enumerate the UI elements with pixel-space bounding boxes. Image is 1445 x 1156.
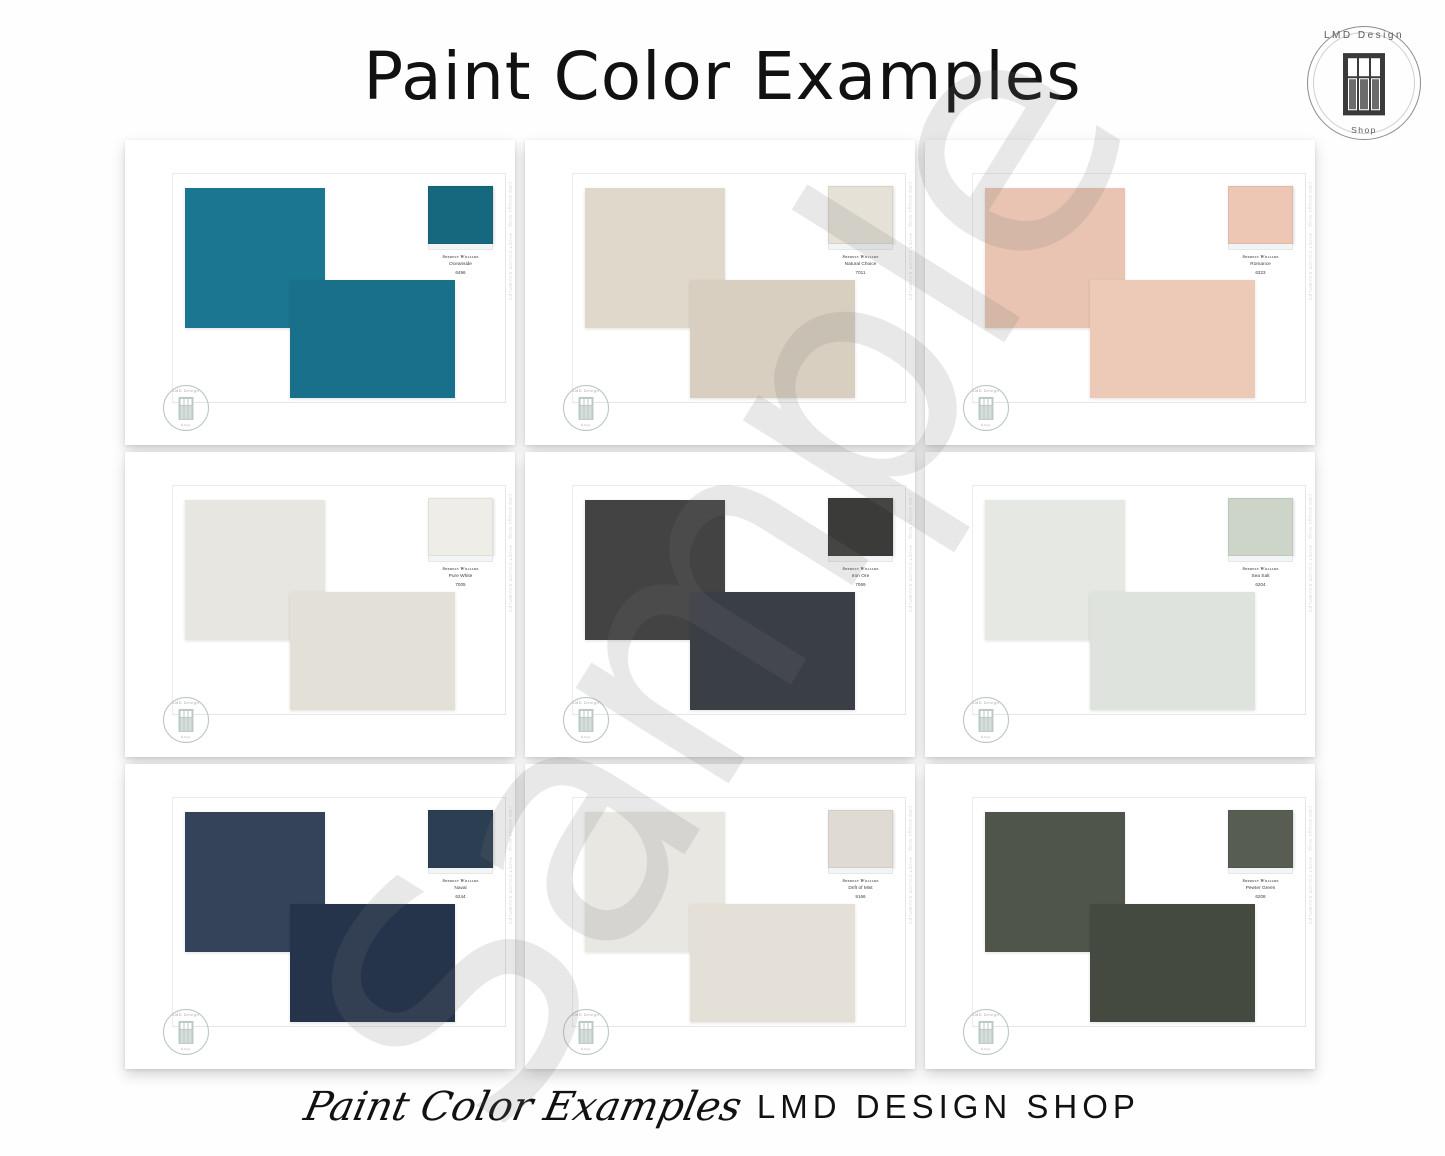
- paint-swatch-chip: [428, 810, 493, 868]
- paint-swatch-foot: [428, 556, 493, 562]
- card-logo-badge: LMD Design Shop: [163, 697, 209, 743]
- room-photo-secondary: [1090, 592, 1255, 710]
- card-logo-bottom-text: Shop: [563, 1047, 609, 1051]
- paint-swatch[interactable]: Sherwin Williams Pure White 7005: [428, 498, 493, 588]
- card-door-logo-icon: [579, 1021, 594, 1044]
- paint-swatch[interactable]: Sherwin Williams Natural Choice 7011: [828, 186, 893, 276]
- card-logo-top-text: LMD Design: [963, 389, 1009, 393]
- logo-top-text: LMD Design: [1303, 30, 1425, 41]
- card-side-watermark: LMD Design Shop - PAINT COLOR EXAMPLES: [508, 806, 513, 925]
- card-logo-top-text: LMD Design: [963, 701, 1009, 705]
- card-door-logo-icon: [979, 397, 994, 420]
- paint-card-natural-choice[interactable]: Sherwin Williams Natural Choice 7011 LMD…: [525, 140, 915, 445]
- page-title: Paint Color Examples: [0, 38, 1445, 115]
- card-logo-badge: LMD Design Shop: [963, 1009, 1009, 1055]
- paint-color-name: Natural Choice: [828, 261, 893, 269]
- paint-swatch-chip: [428, 498, 493, 556]
- card-door-logo-icon: [579, 709, 594, 732]
- card-logo-bottom-text: Shop: [163, 423, 209, 427]
- paint-swatch-label: Sherwin Williams Naval 6244: [428, 878, 493, 900]
- paint-color-name: Pure White: [428, 573, 493, 581]
- paint-card-naval[interactable]: Sherwin Williams Naval 6244 LMD Design S…: [125, 764, 515, 1069]
- paint-card-pure-white[interactable]: Sherwin Williams Pure White 7005 LMD Des…: [125, 452, 515, 757]
- paint-color-name: Drift of Mist: [828, 885, 893, 893]
- card-side-watermark: LMD Design Shop - PAINT COLOR EXAMPLES: [508, 182, 513, 301]
- paint-swatch-foot: [1228, 868, 1293, 874]
- card-door-logo-icon: [979, 709, 994, 732]
- card-logo-top-text: LMD Design: [163, 389, 209, 393]
- paint-brand: Sherwin Williams: [1228, 254, 1293, 261]
- paint-brand: Sherwin Williams: [428, 566, 493, 573]
- paint-swatch-foot: [828, 244, 893, 250]
- paint-swatch-foot: [828, 868, 893, 874]
- room-photo-secondary: [690, 904, 855, 1022]
- paint-swatch-label: Sherwin Williams Romance 6323: [1228, 254, 1293, 276]
- paint-color-code: 6204: [1228, 581, 1293, 588]
- paint-swatch-chip: [828, 186, 893, 244]
- room-photo-secondary: [1090, 904, 1255, 1022]
- paint-swatch[interactable]: Sherwin Williams Naval 6244: [428, 810, 493, 900]
- card-door-logo-icon: [979, 1021, 994, 1044]
- paint-color-code: 9166: [828, 893, 893, 900]
- paint-swatch-chip: [1228, 498, 1293, 556]
- card-logo-top-text: LMD Design: [163, 701, 209, 705]
- paint-brand: Sherwin Williams: [828, 566, 893, 573]
- paint-swatch[interactable]: Sherwin Williams Drift of Mist 9166: [828, 810, 893, 900]
- paint-brand: Sherwin Williams: [1228, 566, 1293, 573]
- card-door-logo-icon: [579, 397, 594, 420]
- paint-swatch-label: Sherwin Williams Natural Choice 7011: [828, 254, 893, 276]
- card-side-watermark: LMD Design Shop - PAINT COLOR EXAMPLES: [908, 494, 913, 613]
- paint-swatch[interactable]: Sherwin Williams Oceanside 6496: [428, 186, 493, 276]
- paint-swatch-label: Sherwin Williams Pewter Green 6208: [1228, 878, 1293, 900]
- paint-card-grid: Sherwin Williams Oceanside 6496 LMD Desi…: [125, 140, 1315, 1060]
- paint-swatch-label: Sherwin Williams Pure White 7005: [428, 566, 493, 588]
- paint-swatch[interactable]: Sherwin Williams Sea Salt 6204: [1228, 498, 1293, 588]
- card-logo-top-text: LMD Design: [163, 1013, 209, 1017]
- paint-color-code: 7005: [428, 581, 493, 588]
- paint-swatch[interactable]: Sherwin Williams Iron Ore 7069: [828, 498, 893, 588]
- card-logo-bottom-text: Shop: [563, 423, 609, 427]
- card-side-watermark: LMD Design Shop - PAINT COLOR EXAMPLES: [1308, 182, 1313, 301]
- room-photo-secondary: [690, 592, 855, 710]
- card-logo-badge: LMD Design Shop: [563, 697, 609, 743]
- paint-brand: Sherwin Williams: [1228, 878, 1293, 885]
- paint-brand: Sherwin Williams: [428, 254, 493, 261]
- paint-color-code: 6323: [1228, 269, 1293, 276]
- room-photo-secondary: [290, 592, 455, 710]
- room-photo-secondary: [290, 904, 455, 1022]
- paint-card-sea-salt[interactable]: Sherwin Williams Sea Salt 6204 LMD Desig…: [925, 452, 1315, 757]
- logo-bottom-text: Shop: [1303, 125, 1425, 135]
- paint-color-code: 7069: [828, 581, 893, 588]
- paint-swatch-foot: [1228, 556, 1293, 562]
- paint-swatch-foot: [428, 868, 493, 874]
- paint-swatch-label: Sherwin Williams Oceanside 6496: [428, 254, 493, 276]
- card-logo-bottom-text: Shop: [963, 1047, 1009, 1051]
- card-logo-bottom-text: Shop: [563, 735, 609, 739]
- paint-swatch-chip: [1228, 810, 1293, 868]
- paint-swatch-chip: [828, 498, 893, 556]
- card-logo-badge: LMD Design Shop: [163, 1009, 209, 1055]
- door-logo-icon: [1343, 53, 1385, 115]
- paint-brand: Sherwin Williams: [428, 878, 493, 885]
- paint-color-name: Naval: [428, 885, 493, 893]
- paint-swatch-label: Sherwin Williams Sea Salt 6204: [1228, 566, 1293, 588]
- brand-logo: LMD Design Shop: [1303, 22, 1425, 144]
- paint-swatch-label: Sherwin Williams Drift of Mist 9166: [828, 878, 893, 900]
- paint-swatch-chip: [828, 810, 893, 868]
- paint-color-name: Sea Salt: [1228, 573, 1293, 581]
- paint-color-examples-page: Paint Color Examples LMD Design Shop She…: [0, 0, 1445, 1156]
- paint-swatch-foot: [828, 556, 893, 562]
- card-side-watermark: LMD Design Shop - PAINT COLOR EXAMPLES: [1308, 806, 1313, 925]
- card-door-logo-icon: [179, 397, 194, 420]
- card-logo-badge: LMD Design Shop: [963, 385, 1009, 431]
- card-logo-badge: LMD Design Shop: [563, 385, 609, 431]
- paint-brand: Sherwin Williams: [828, 878, 893, 885]
- paint-color-name: Pewter Green: [1228, 885, 1293, 893]
- card-logo-bottom-text: Shop: [163, 1047, 209, 1051]
- paint-color-name: Iron Ore: [828, 573, 893, 581]
- paint-swatch-foot: [428, 244, 493, 250]
- footer: Paint Color Examples LMD DESIGN SHOP: [0, 1084, 1445, 1130]
- room-photo-secondary: [290, 280, 455, 398]
- card-door-logo-icon: [179, 709, 194, 732]
- paint-color-code: 6208: [1228, 893, 1293, 900]
- paint-color-name: Oceanside: [428, 261, 493, 269]
- card-logo-top-text: LMD Design: [563, 389, 609, 393]
- card-side-watermark: LMD Design Shop - PAINT COLOR EXAMPLES: [908, 182, 913, 301]
- paint-color-name: Romance: [1228, 261, 1293, 269]
- card-logo-badge: LMD Design Shop: [963, 697, 1009, 743]
- card-logo-top-text: LMD Design: [563, 1013, 609, 1017]
- paint-brand: Sherwin Williams: [828, 254, 893, 261]
- paint-swatch-label: Sherwin Williams Iron Ore 7069: [828, 566, 893, 588]
- footer-brand-text: LMD DESIGN SHOP: [757, 1088, 1140, 1126]
- card-side-watermark: LMD Design Shop - PAINT COLOR EXAMPLES: [508, 494, 513, 613]
- paint-card-pewter-green[interactable]: Sherwin Williams Pewter Green 6208 LMD D…: [925, 764, 1315, 1069]
- card-side-watermark: LMD Design Shop - PAINT COLOR EXAMPLES: [1308, 494, 1313, 613]
- paint-card-drift-of-mist[interactable]: Sherwin Williams Drift of Mist 9166 LMD …: [525, 764, 915, 1069]
- paint-card-iron-ore[interactable]: Sherwin Williams Iron Ore 7069 LMD Desig…: [525, 452, 915, 757]
- paint-swatch[interactable]: Sherwin Williams Romance 6323: [1228, 186, 1293, 276]
- card-logo-bottom-text: Shop: [163, 735, 209, 739]
- paint-card-romance[interactable]: Sherwin Williams Romance 6323 LMD Design…: [925, 140, 1315, 445]
- paint-color-code: 6244: [428, 893, 493, 900]
- room-photo-secondary: [1090, 280, 1255, 398]
- paint-color-code: 7011: [828, 269, 893, 276]
- card-door-logo-icon: [179, 1021, 194, 1044]
- card-logo-top-text: LMD Design: [563, 701, 609, 705]
- paint-swatch[interactable]: Sherwin Williams Pewter Green 6208: [1228, 810, 1293, 900]
- paint-swatch-chip: [428, 186, 493, 244]
- card-logo-badge: LMD Design Shop: [563, 1009, 609, 1055]
- card-logo-bottom-text: Shop: [963, 735, 1009, 739]
- card-side-watermark: LMD Design Shop - PAINT COLOR EXAMPLES: [908, 806, 913, 925]
- card-logo-bottom-text: Shop: [963, 423, 1009, 427]
- paint-swatch-foot: [1228, 244, 1293, 250]
- paint-color-code: 6496: [428, 269, 493, 276]
- paint-card-oceanside[interactable]: Sherwin Williams Oceanside 6496 LMD Desi…: [125, 140, 515, 445]
- footer-script-text: Paint Color Examples: [300, 1084, 746, 1130]
- room-photo-secondary: [690, 280, 855, 398]
- paint-swatch-chip: [1228, 186, 1293, 244]
- card-logo-badge: LMD Design Shop: [163, 385, 209, 431]
- card-logo-top-text: LMD Design: [963, 1013, 1009, 1017]
